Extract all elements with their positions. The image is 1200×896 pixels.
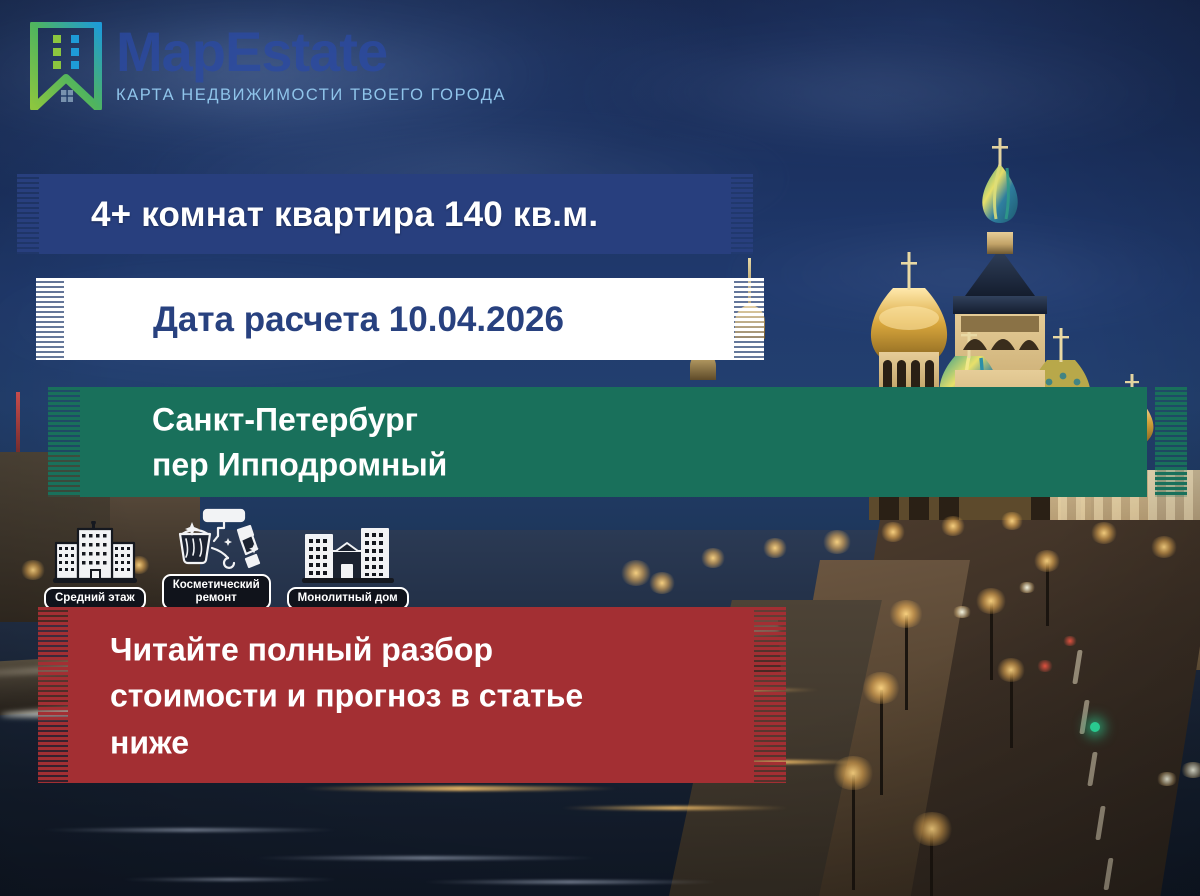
property-address: Санкт-Петербург пер Ипподромный xyxy=(152,398,447,489)
badge-srednij-etazh: Средний этаж xyxy=(44,521,146,610)
apartment-building-icon xyxy=(52,521,138,585)
address-band: Санкт-Петербург пер Ипподромный xyxy=(62,383,1167,503)
date-band: Дата расчета 10.04.2026 xyxy=(48,272,748,368)
property-title: 4+ комнат квартира 140 кв.м. xyxy=(91,195,598,235)
title-band: 4+ комнат квартира 140 кв.м. xyxy=(25,170,741,260)
paint-roller-brush-icon xyxy=(168,508,264,572)
badge-monolitnyy-dom: Монолитный дом xyxy=(287,521,409,610)
bookmark-building-icon xyxy=(30,22,102,110)
cta-band: Читайте полный разбор стоимости и прогно… xyxy=(52,603,770,789)
feature-badges: Средний этаж xyxy=(44,508,409,610)
brand-name: MapEstate xyxy=(116,24,506,80)
highrise-construction-icon xyxy=(300,521,396,585)
brand-tagline: КАРТА НЕДВИЖИМОСТИ ТВОЕГО ГОРОДА xyxy=(116,86,506,105)
cta-text: Читайте полный разбор стоимости и прогно… xyxy=(110,626,750,765)
calculation-date: Дата расчета 10.04.2026 xyxy=(153,300,564,340)
badge-kosmeticheskiy-remont: Косметический ремонт xyxy=(162,508,271,610)
brand-logo[interactable]: MapEstate КАРТА НЕДВИЖИМОСТИ ТВОЕГО ГОРО… xyxy=(30,22,506,110)
